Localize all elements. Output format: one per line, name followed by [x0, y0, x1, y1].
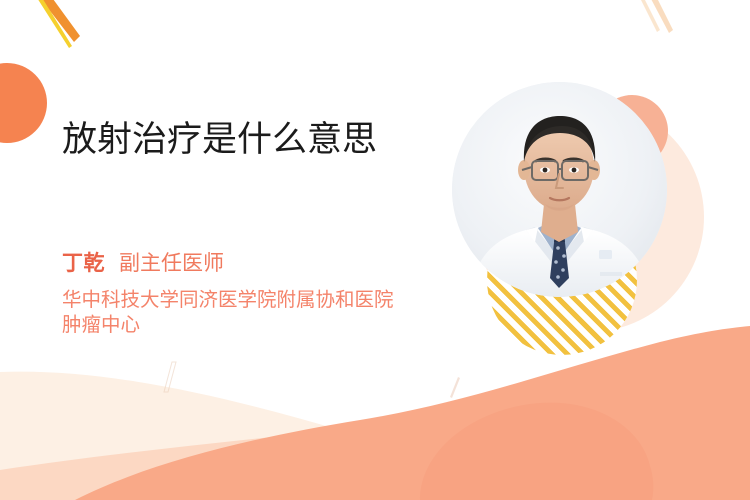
doctor-title: 副主任医师 — [119, 252, 224, 275]
doctor-affiliation: 华中科技大学同济医学院附属协和医院 肿瘤中心 — [62, 288, 462, 338]
affiliation-line-1: 华中科技大学同济医学院附属协和医院 — [62, 288, 462, 313]
stroke-sliver-outline — [164, 362, 176, 392]
stroke-orange-thick — [37, 0, 80, 42]
wave-cream-bottom-left — [0, 372, 750, 500]
page-title: 放射治疗是什么意思 — [62, 118, 412, 162]
stroke-yellow-thin — [32, 0, 72, 48]
stroke-group-top-left — [32, 0, 80, 48]
wave-peach-light — [0, 344, 750, 500]
stroke-pale-thick — [650, 0, 673, 33]
orange-circle-left — [0, 63, 47, 143]
portrait-block — [452, 82, 684, 340]
wave-peach-bottom-right — [75, 326, 750, 500]
affiliation-line-2: 肿瘤中心 — [62, 313, 462, 338]
doctor-credentials: 丁乾副主任医师 — [62, 250, 224, 277]
stroke-sliver-bottom — [164, 362, 176, 392]
stroke-faint-bottom-right — [450, 377, 460, 398]
stroke-group-top-right — [639, 0, 673, 33]
doctor-name: 丁乾 — [62, 252, 105, 275]
stroke-pale-thin — [639, 0, 660, 32]
doctor-portrait-illustration — [452, 82, 667, 297]
wave-peach-lobe — [420, 403, 653, 500]
avatar — [452, 82, 667, 297]
doctor-video-cover: 放射治疗是什么意思 丁乾副主任医师 华中科技大学同济医学院附属协和医院 肿瘤中心 — [0, 0, 750, 500]
